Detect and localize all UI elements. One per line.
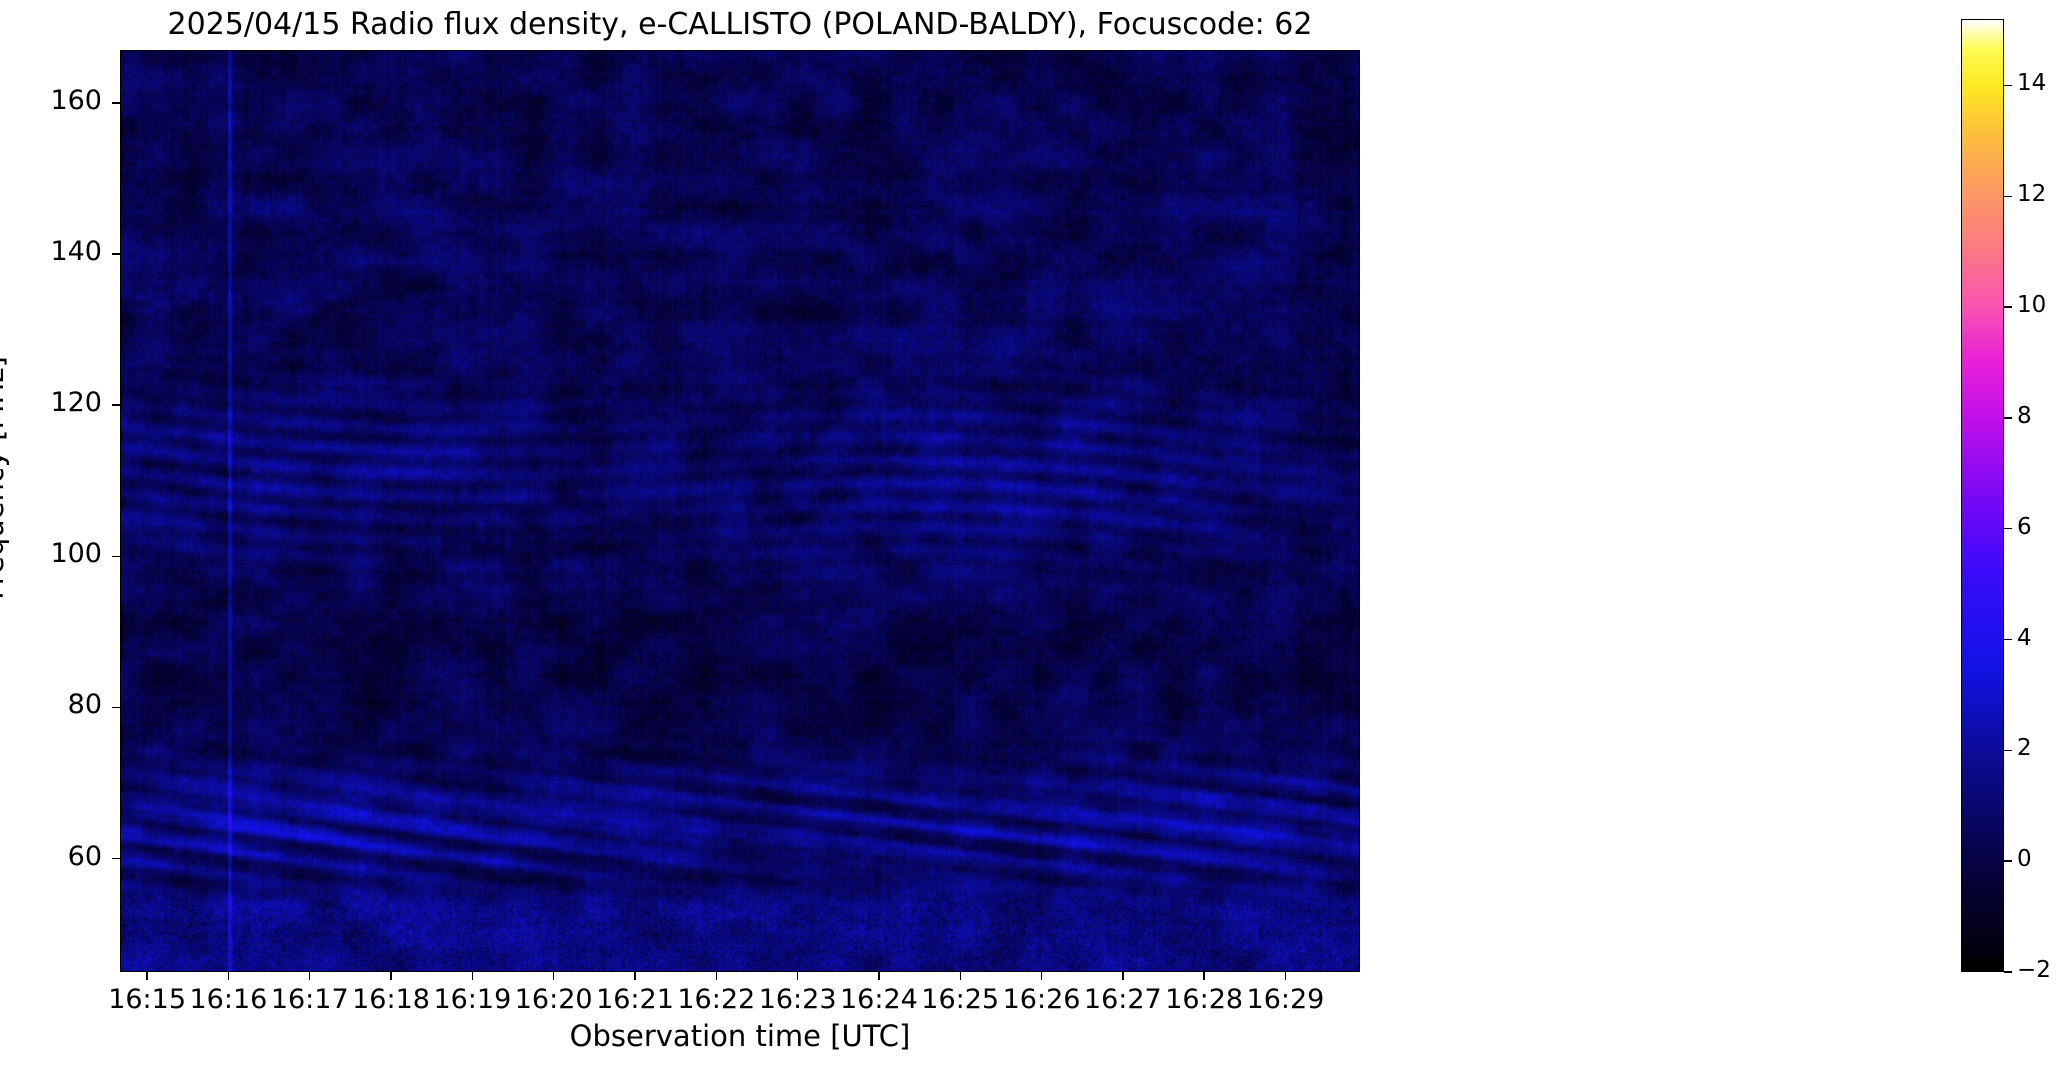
x-tick-mark: [146, 972, 147, 980]
colorbar-tick-label: 10: [2017, 292, 2046, 318]
y-tick-label: 140: [10, 236, 102, 267]
x-tick-mark: [1122, 972, 1123, 980]
colorbar-tick-label: 12: [2017, 181, 2046, 207]
colorbar-tick-mark: [2004, 417, 2012, 418]
colorbar-tick-mark: [2004, 639, 2012, 640]
x-tick-mark: [1203, 972, 1204, 980]
colorbar-tick-label: 4: [2017, 625, 2032, 651]
x-tick-mark: [878, 972, 879, 980]
colorbar-tick-mark: [2004, 971, 2012, 972]
y-tick-label: 100: [10, 538, 102, 569]
colorbar-gradient: [1962, 20, 2003, 971]
colorbar-tick-label: −2: [2017, 957, 2051, 983]
x-tick-mark: [960, 972, 961, 980]
colorbar-tick-mark: [2004, 528, 2012, 529]
y-tick-mark: [112, 404, 120, 405]
x-tick-mark: [309, 972, 310, 980]
colorbar-tick-label: 14: [2017, 70, 2046, 96]
colorbar-tick-label: 0: [2017, 846, 2032, 872]
y-tick-label: 120: [10, 387, 102, 418]
colorbar-tick-mark: [2004, 750, 2012, 751]
y-tick-mark: [112, 707, 120, 708]
x-tick-mark: [1041, 972, 1042, 980]
colorbar-tick-mark: [2004, 860, 2012, 861]
y-tick-label: 60: [10, 841, 102, 872]
spectrogram-image: [121, 51, 1360, 972]
spectrogram-plot: [120, 50, 1360, 972]
x-tick-mark: [472, 972, 473, 980]
colorbar: [1961, 19, 2004, 972]
colorbar-tick-mark: [2004, 306, 2012, 307]
figure-canvas: 2025/04/15 Radio flux density, e-CALLIST…: [0, 0, 2066, 1067]
y-tick-label: 80: [10, 689, 102, 720]
x-tick-mark: [390, 972, 391, 980]
x-tick-mark: [553, 972, 554, 980]
colorbar-tick-label: 8: [2017, 403, 2032, 429]
colorbar-tick-mark: [2004, 196, 2012, 197]
y-tick-mark: [112, 102, 120, 103]
y-tick-mark: [112, 858, 120, 859]
page-title: 2025/04/15 Radio flux density, e-CALLIST…: [120, 4, 1360, 44]
x-tick-mark: [634, 972, 635, 980]
x-tick-mark: [228, 972, 229, 980]
colorbar-tick-label: 6: [2017, 514, 2032, 540]
x-axis-label: Observation time [UTC]: [120, 1016, 1360, 1056]
x-tick-mark: [797, 972, 798, 980]
x-tick-mark: [1285, 972, 1286, 980]
y-tick-label: 160: [10, 85, 102, 116]
x-tick-label: 16:29: [1215, 984, 1355, 1015]
y-tick-mark: [112, 556, 120, 557]
colorbar-tick-mark: [2004, 85, 2012, 86]
y-tick-mark: [112, 253, 120, 254]
y-axis-label: Frequency [MHz]: [0, 17, 10, 939]
colorbar-tick-label: 2: [2017, 735, 2032, 761]
x-tick-mark: [716, 972, 717, 980]
